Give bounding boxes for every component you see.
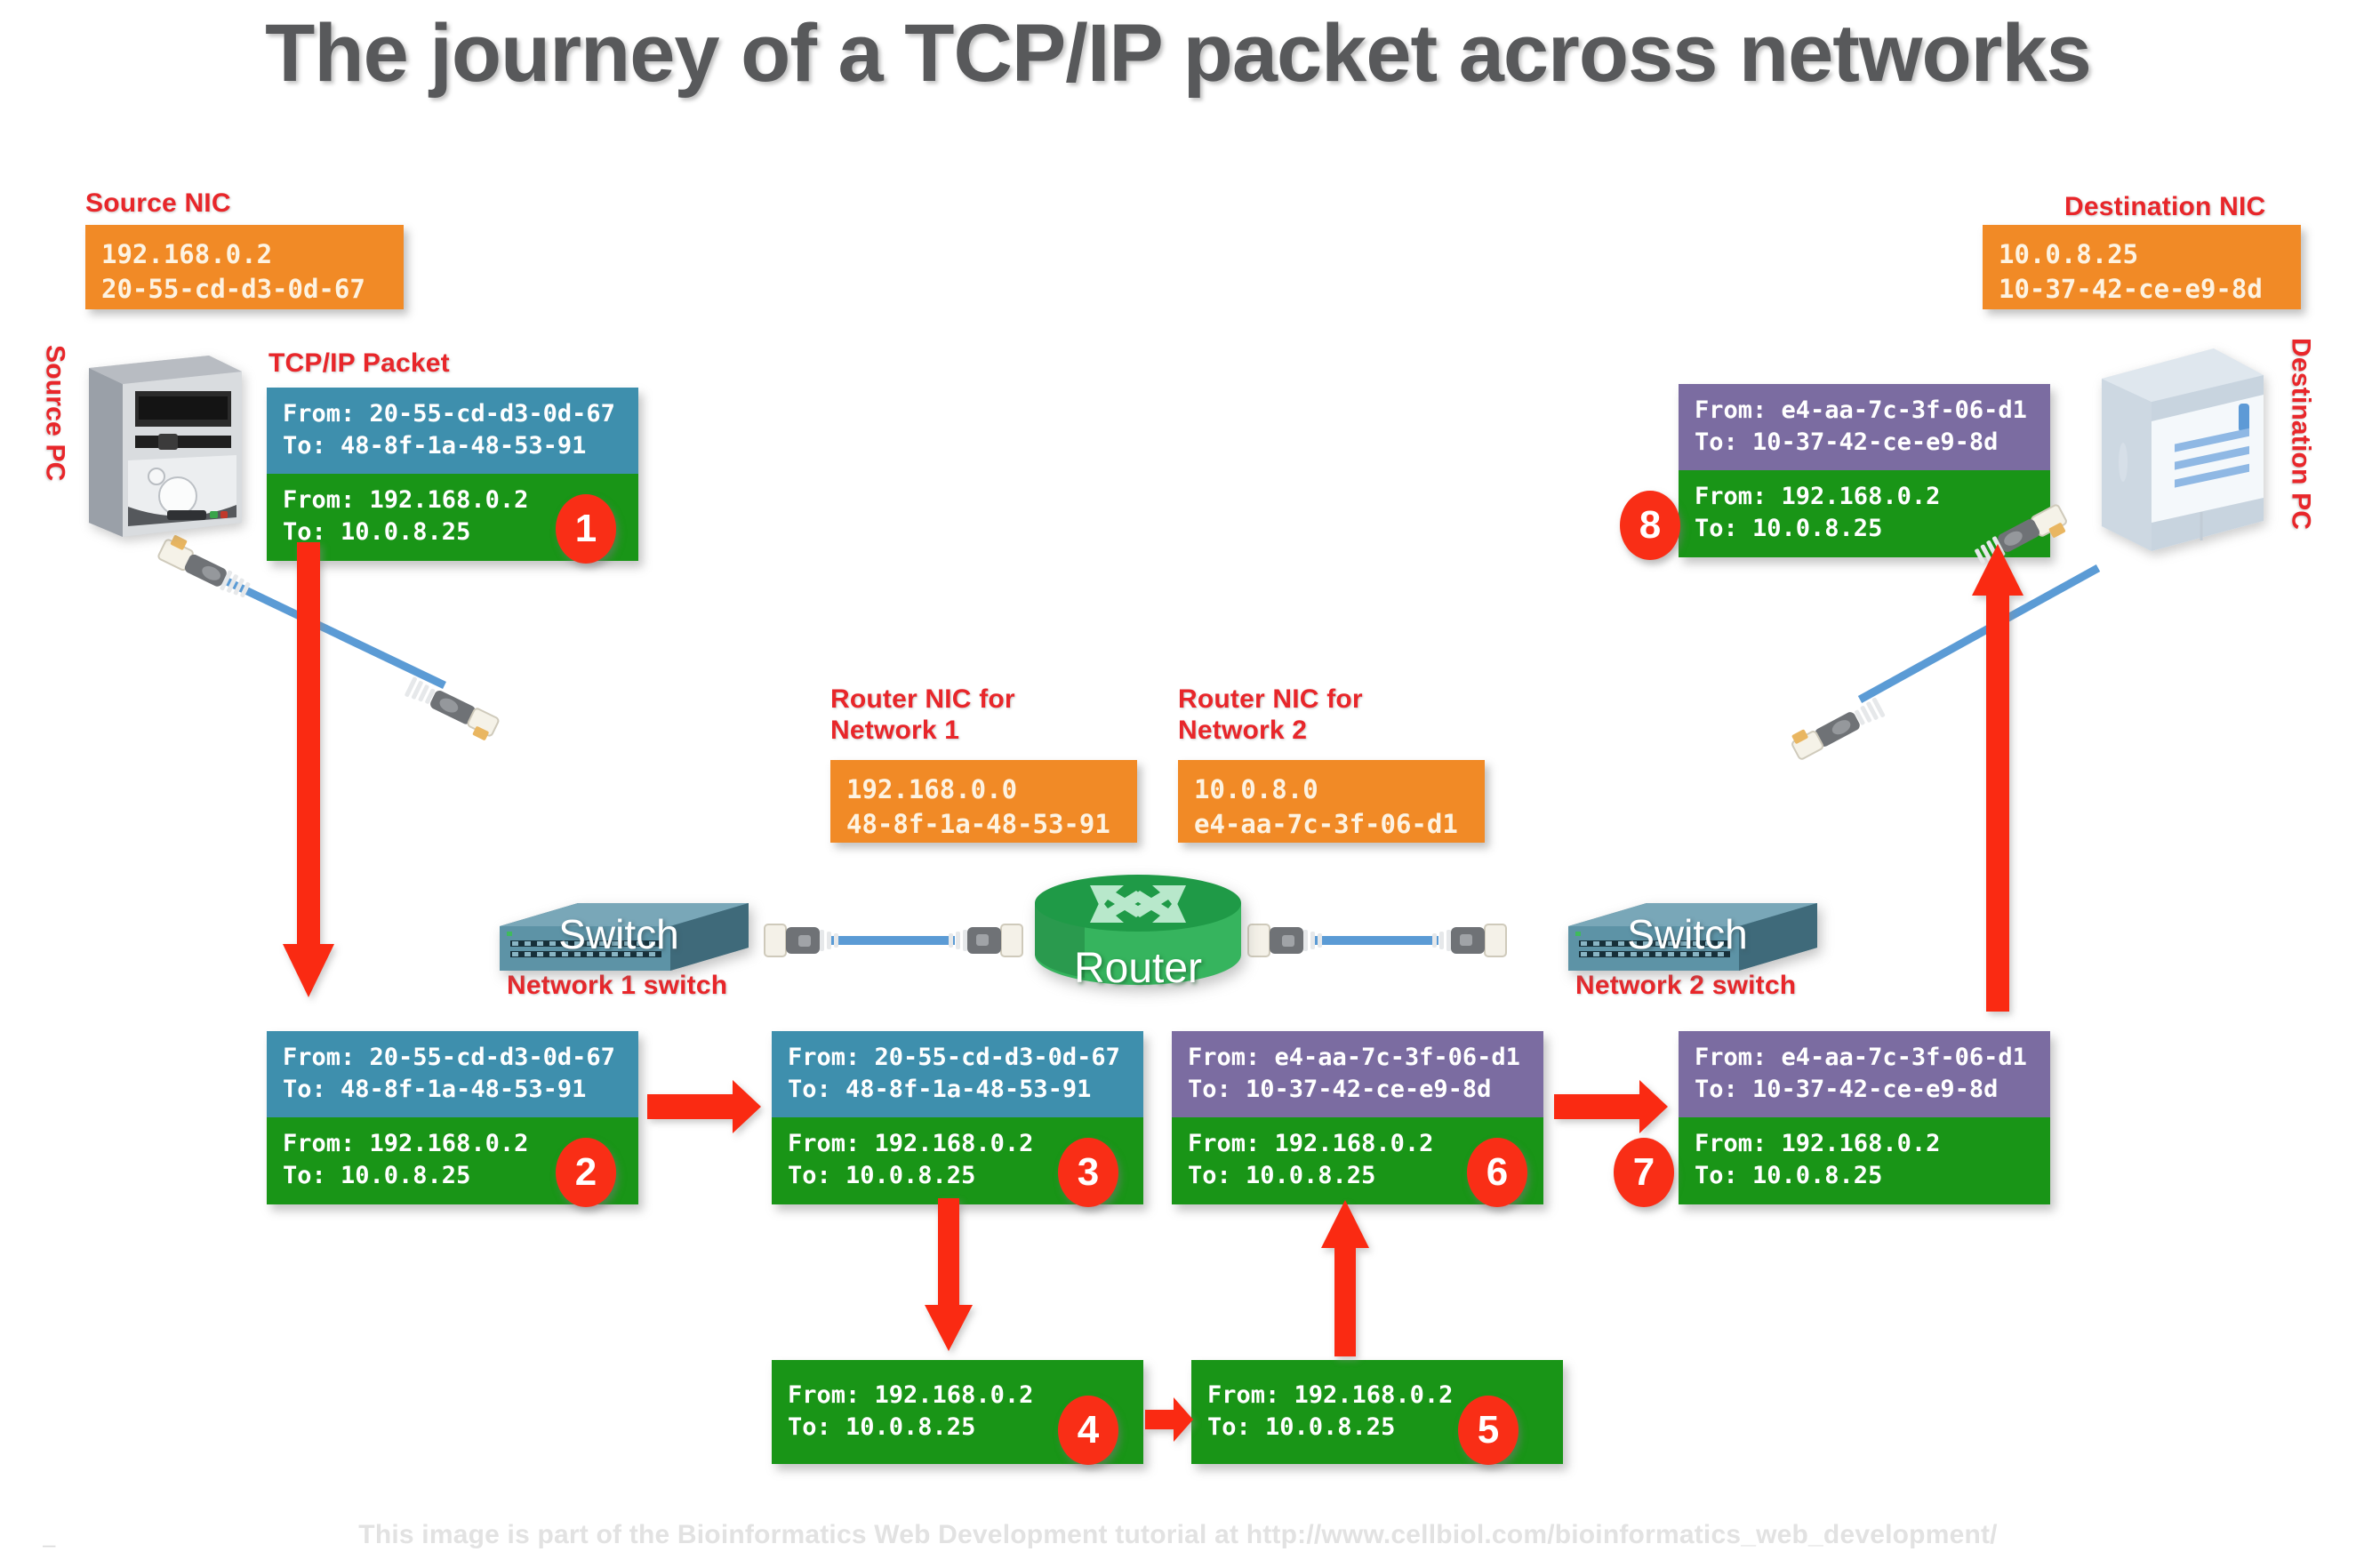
packet-7-ip-band: From: 192.168.0.2 To: 10.0.8.25 [1679, 1117, 2050, 1204]
packet-3-mac-from: From: 20-55-cd-d3-0d-67 [788, 1042, 1129, 1074]
router-nic1-box: 192.168.0.0 48-8f-1a-48-53-91 [830, 760, 1137, 843]
step-badge-5: 5 [1458, 1396, 1519, 1465]
router-nic2-label: Router NIC for Network 2 [1178, 684, 1363, 746]
source-pc-icon [80, 348, 249, 544]
router-nic2-ip: 10.0.8.0 [1194, 772, 1469, 807]
packet-3-mac-band: From: 20-55-cd-d3-0d-67 To: 48-8f-1a-48-… [772, 1031, 1143, 1117]
router-switch2-cable [1236, 908, 1520, 971]
router-nic2-mac: e4-aa-7c-3f-06-d1 [1194, 807, 1469, 842]
switch1-router-cable [752, 908, 1037, 971]
destination-nic-label: Destination NIC [2064, 192, 2265, 223]
packet-box-7: From: e4-aa-7c-3f-06-d1 To: 10-37-42-ce-… [1679, 1031, 2050, 1204]
packet-8-mac-to: To: 10-37-42-ce-e9-8d [1695, 427, 2036, 459]
destination-nic-box: 10.0.8.25 10-37-42-ce-e9-8d [1983, 225, 2301, 309]
packet-8-ip-from: From: 192.168.0.2 [1695, 481, 2036, 513]
destination-pc-icon [2089, 338, 2276, 560]
diagram-canvas: The journey of a TCP/IP packet across ne… [0, 0, 2356, 1568]
router-nic2-box: 10.0.8.0 e4-aa-7c-3f-06-d1 [1178, 760, 1485, 843]
router-icon[interactable]: Router [1031, 873, 1245, 987]
destination-nic-mac: 10-37-42-ce-e9-8d [1999, 272, 2285, 307]
router-nic1-mac: 48-8f-1a-48-53-91 [846, 807, 1121, 842]
arrow-step-4-to-5 [1145, 1397, 1195, 1444]
packet-2-mac-from: From: 20-55-cd-d3-0d-67 [283, 1042, 624, 1074]
router-nic1-ip: 192.168.0.0 [846, 772, 1121, 807]
source-nic-label: Source NIC [85, 188, 231, 220]
source-nic-mac: 20-55-cd-d3-0d-67 [101, 272, 388, 307]
network-2-switch-icon[interactable]: Switch [1554, 896, 1821, 985]
packet-2-mac-to: To: 48-8f-1a-48-53-91 [283, 1074, 624, 1106]
page-title: The journey of a TCP/IP packet across ne… [0, 7, 2356, 100]
packet-1-mac-band: From: 20-55-cd-d3-0d-67 To: 48-8f-1a-48-… [267, 388, 638, 474]
packet-6-mac-band: From: e4-aa-7c-3f-06-d1 To: 10-37-42-ce-… [1172, 1031, 1543, 1117]
packet-2-mac-band: From: 20-55-cd-d3-0d-67 To: 48-8f-1a-48-… [267, 1031, 638, 1117]
arrow-step-7-to-8 [1972, 544, 2025, 1013]
packet-7-ip-to: To: 10.0.8.25 [1695, 1160, 2036, 1192]
packet-8-mac-band: From: e4-aa-7c-3f-06-d1 To: 10-37-42-ce-… [1679, 384, 2050, 470]
packet-7-mac-from: From: e4-aa-7c-3f-06-d1 [1695, 1042, 2036, 1074]
packet-8-mac-from: From: e4-aa-7c-3f-06-d1 [1695, 395, 2036, 427]
destination-pc-label: Destination PC [2285, 338, 2316, 530]
arrow-step-6-to-7 [1554, 1080, 1670, 1137]
step-badge-7: 7 [1614, 1138, 1674, 1207]
step-badge-4: 4 [1058, 1396, 1118, 1465]
packet-7-mac-to: To: 10-37-42-ce-e9-8d [1695, 1074, 2036, 1106]
step-badge-3: 3 [1058, 1138, 1118, 1207]
source-nic-box: 192.168.0.2 20-55-cd-d3-0d-67 [85, 225, 404, 309]
source-pc-label: Source PC [39, 345, 70, 482]
tcpip-packet-label: TCP/IP Packet [268, 348, 450, 380]
step-badge-2: 2 [556, 1138, 616, 1207]
step-badge-8: 8 [1620, 491, 1680, 560]
packet-1-mac-from: From: 20-55-cd-d3-0d-67 [283, 398, 624, 430]
source-cable [151, 511, 533, 742]
packet-1-mac-to: To: 48-8f-1a-48-53-91 [283, 430, 624, 462]
router-nic1-label: Router NIC for Network 1 [830, 684, 1015, 746]
packet-7-mac-band: From: e4-aa-7c-3f-06-d1 To: 10-37-42-ce-… [1679, 1031, 2050, 1117]
step-badge-1: 1 [556, 494, 616, 564]
footer-attribution: This image is part of the Bioinformatics… [0, 1520, 2356, 1550]
packet-6-mac-from: From: e4-aa-7c-3f-06-d1 [1188, 1042, 1529, 1074]
packet-7-ip-from: From: 192.168.0.2 [1695, 1128, 2036, 1160]
arrow-step-1-to-2 [283, 542, 336, 1004]
arrow-step-5-to-6 [1321, 1200, 1373, 1358]
network-1-switch-icon[interactable]: Switch [485, 896, 752, 985]
step-badge-6: 6 [1467, 1138, 1527, 1207]
packet-3-mac-to: To: 48-8f-1a-48-53-91 [788, 1074, 1129, 1106]
packet-6-mac-to: To: 10-37-42-ce-e9-8d [1188, 1074, 1529, 1106]
destination-nic-ip: 10.0.8.25 [1999, 237, 2285, 272]
arrow-step-2-to-3 [647, 1080, 763, 1137]
arrow-step-3-to-4 [925, 1198, 976, 1356]
source-nic-ip: 192.168.0.2 [101, 237, 388, 272]
